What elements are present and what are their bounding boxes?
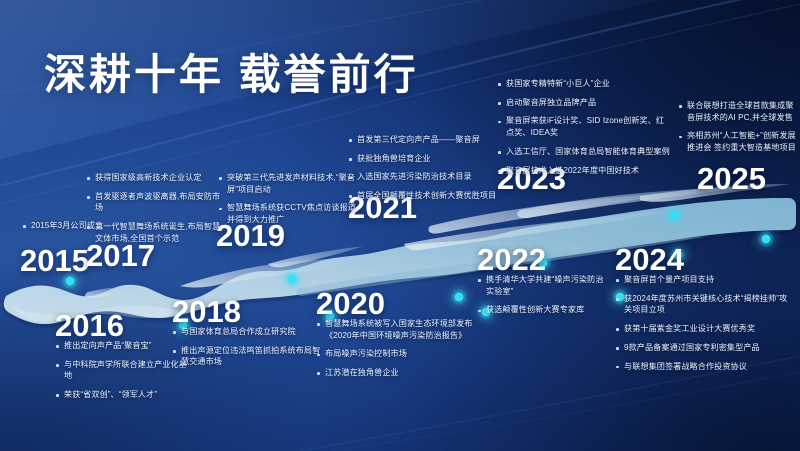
event-block-2022: 携手清华大学共建“噪声污染防治实验室” 获选颠覆性创新大赛专家库 [477, 274, 607, 316]
bullet-item: 获国家专精特新“小巨人”企业 [497, 78, 672, 90]
bullet-item: 获得国家级高新技术企业认定 [86, 172, 226, 184]
bullet-item: 联合联想打造全球首款集成聚音屏技术的AI PC,并全球发售 [678, 100, 796, 123]
bullet-item: 第一代智慧舞场系统诞生,布局智慧文体市场,全国首个示范 [86, 221, 226, 244]
bullet-item: 入选国家先进污染防治技术目录 [348, 171, 503, 183]
timeline-node-2025[interactable] [670, 211, 679, 220]
event-block-2024: 聚音屏首个量产项目支持 获2024年度苏州市关键核心技术“揭榜挂帅”攻关项目立项… [615, 274, 790, 372]
bullet-item: 首届全国颠覆性技术创新大赛优胜项目 [348, 190, 503, 202]
event-block-2021: 首发第三代定向声产品——聚音屏 获批独角兽培育企业 入选国家先进污染防治技术目录… [348, 134, 503, 202]
bullet-item: 首发驱逐者声波驱离器,布局安防市场 [86, 191, 226, 214]
bullet-item: 携手清华大学共建“噪声污染防治实验室” [477, 274, 607, 297]
bullet-item: 突破第三代先进发声材料技术,“聚音屏”项目启动 [218, 172, 363, 195]
year-label-2025: 2025 [697, 163, 766, 194]
bullet-item: 与联想集团签署战略合作投资协议 [615, 361, 790, 373]
event-block-2025: 联合联想打造全球首款集成聚音屏技术的AI PC,并全球发售 亮相苏州“人工智能+… [678, 100, 796, 154]
bullet-item: 聚音屏荣获iF设计奖、SID Izone创新奖、红点奖、IDEA奖 [497, 115, 672, 138]
event-block-2023: 获国家专精特新“小巨人”企业 启动聚音屏独立品牌产品 聚音屏荣获iF设计奖、SI… [497, 78, 672, 176]
bullet-item: 获选颠覆性创新大赛专家库 [477, 304, 607, 316]
event-block-2019: 突破第三代先进发声材料技术,“聚音屏”项目启动 智慧舞场系统获CCTV焦点访谈报… [218, 172, 363, 226]
bullet-item: 荣获“省双创”、“领军人才” [55, 389, 195, 401]
bullet-item: 亮相苏州“人工智能+”创新发展推进会 签约重大智造基地项目 [678, 130, 796, 153]
year-label-2022: 2022 [477, 244, 546, 275]
bullet-item: 与国家体育总局合作成立研究院 [172, 326, 322, 338]
timeline-node-2020[interactable] [455, 293, 464, 302]
bullet-item: 智慧舞场系统被写入国家生态环境部发布《2020年中国环境噪声污染防治报告》 [316, 318, 476, 341]
bullet-item: 聚音屏首个量产项目支持 [615, 274, 790, 286]
bullet-item: 入选工信厅、国家体育总局智能体育典型案例 [497, 146, 672, 158]
infographic-canvas: 深耕十年 载誉前行 [0, 0, 800, 451]
bullet-item: 聚音屏技术入选2022年度中国好技术 [497, 165, 672, 177]
bullet-item: 江苏潜在独角兽企业 [316, 367, 476, 379]
bullet-item: 启动聚音屏独立品牌产品 [497, 97, 672, 109]
bullet-item: 获2024年度苏州市关键核心技术“揭榜挂帅”攻关项目立项 [615, 293, 790, 316]
bullet-item: 获第十届紫金奖工业设计大赛优秀奖 [615, 323, 790, 335]
bullet-item: 布局噪声污染控制市场 [316, 348, 476, 360]
event-block-2018: 与国家体育总局合作成立研究院 推出声源定位违法鸣笛抓拍系统布局智慧交通市场 [172, 326, 322, 368]
year-label-2020: 2020 [316, 288, 385, 319]
bullet-item: 首发第三代定向声产品——聚音屏 [348, 134, 503, 146]
year-label-2015: 2015 [20, 245, 89, 276]
timeline-node-2017[interactable] [288, 275, 297, 284]
bullet-item: 智慧舞场系统获CCTV焦点访谈报道,并得到大力推广 [218, 202, 363, 225]
timeline-node-2023[interactable] [762, 235, 771, 244]
event-block-2017: 获得国家级高新技术企业认定 首发驱逐者声波驱离器,布局安防市场 第一代智慧舞场系… [86, 172, 226, 245]
year-label-2018: 2018 [172, 296, 241, 327]
year-label-2024: 2024 [615, 244, 684, 275]
year-label-2016: 2016 [55, 310, 124, 341]
bullet-item: 获批独角兽培育企业 [348, 153, 503, 165]
bullet-item: 推出声源定位违法鸣笛抓拍系统布局智慧交通市场 [172, 345, 322, 368]
bullet-item: 9款产品备案通过国家专利密集型产品 [615, 342, 790, 354]
event-block-2020: 智慧舞场系统被写入国家生态环境部发布《2020年中国环境噪声污染防治报告》 布局… [316, 318, 476, 379]
